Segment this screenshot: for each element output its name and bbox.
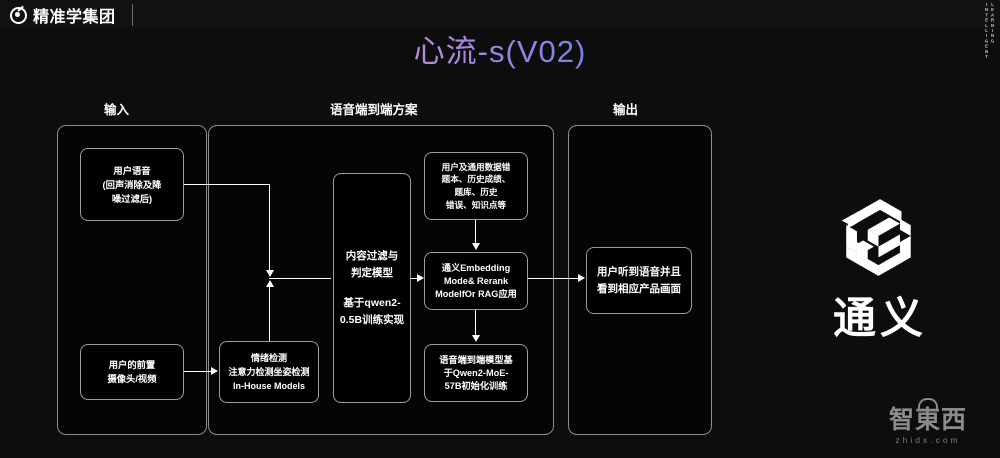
connector-embedding-to-output xyxy=(528,278,582,279)
brand-logo: 精准学集团 xyxy=(0,3,116,27)
node-content-filter-sub: 基于qwen2- 0.5B训练实现 xyxy=(340,295,404,329)
arrowhead-voice-down xyxy=(266,270,274,277)
node-data-sources[interactable]: 用户及通用数据错 题本、历史成绩、 题库、历史 错误、知识点等 xyxy=(424,152,528,220)
arrowhead-data-to-embedding xyxy=(472,243,480,250)
node-e2e-model[interactable]: 语音端到端模型基 于Qwen2-MoE- 57B初始化训练 xyxy=(424,344,528,402)
page-title: 心流-s(V02) xyxy=(0,26,1000,71)
watermark-sub: zhidx.com xyxy=(895,435,960,445)
node-output-result[interactable]: 用户听到语音并且 看到相应产品画面 xyxy=(586,247,692,314)
connector-voice-right xyxy=(184,184,270,185)
arrowhead-emotion-up xyxy=(266,280,274,287)
node-user-camera-label: 用户的前置 摄像头/视频 xyxy=(107,358,156,386)
node-e2e-model-label: 语音端到端模型基 于Qwen2-MoE- 57B初始化训练 xyxy=(439,354,513,393)
connector-camera-right xyxy=(184,371,212,372)
node-user-voice[interactable]: 用户语音 (回声消除及降 噪过滤后) xyxy=(80,148,184,221)
brand-name: 精准学集团 xyxy=(33,3,116,27)
node-embedding-rerank[interactable]: 通义Embedding Mode& Rerank ModelfOr RAG应用 xyxy=(424,252,528,310)
arrowhead-embedding-to-e2e xyxy=(472,335,480,342)
tongyi-wordmark: 通义 xyxy=(833,284,927,346)
tongyi-mark-icon xyxy=(826,196,934,282)
connector-emotion-up xyxy=(269,284,270,341)
connector-voice-down xyxy=(269,184,270,276)
connector-embedding-to-e2e xyxy=(475,310,476,336)
header-divider xyxy=(132,4,133,26)
node-output-result-label: 用户听到语音并且 看到相应产品画面 xyxy=(597,264,681,298)
node-user-voice-label: 用户语音 (回声消除及降 噪过滤后) xyxy=(103,164,162,206)
node-content-filter-title: 内容过滤与 判定模型 xyxy=(346,248,399,282)
connector-junction-to-filter xyxy=(269,278,331,279)
arrowhead-embedding-to-output xyxy=(578,274,585,282)
tongyi-logo: 通义 xyxy=(805,196,955,346)
slide-root: 精准学集团 INTELLIGENT LEARNING 心流-s(V02) 输入 … xyxy=(0,0,1000,458)
section-caption-output: 输出 xyxy=(613,99,638,118)
target-circle-icon xyxy=(10,7,27,24)
watermark-main: 智東西 xyxy=(889,407,967,434)
node-content-filter[interactable]: 内容过滤与 判定模型 基于qwen2- 0.5B训练实现 xyxy=(333,173,411,403)
arrowhead-camera-right xyxy=(211,367,218,375)
node-emotion-detection-label: 情绪检测 注意力检测坐姿检测 In-House Models xyxy=(228,351,309,393)
section-caption-input: 输入 xyxy=(104,99,129,118)
node-user-camera[interactable]: 用户的前置 摄像头/视频 xyxy=(80,344,184,400)
connector-data-to-embedding xyxy=(475,220,476,245)
node-emotion-detection[interactable]: 情绪检测 注意力检测坐姿检测 In-House Models xyxy=(219,341,319,403)
section-caption-pipeline: 语音端到端方案 xyxy=(330,99,418,118)
watermark-zhidx: 智東西 zhidx.com xyxy=(862,398,994,450)
arrowhead-filter-to-embedding xyxy=(417,274,424,282)
node-embedding-rerank-label: 通义Embedding Mode& Rerank ModelfOr RAG应用 xyxy=(435,262,517,301)
node-data-sources-label: 用户及通用数据错 题本、历史成绩、 题库、历史 错误、知识点等 xyxy=(442,161,511,211)
